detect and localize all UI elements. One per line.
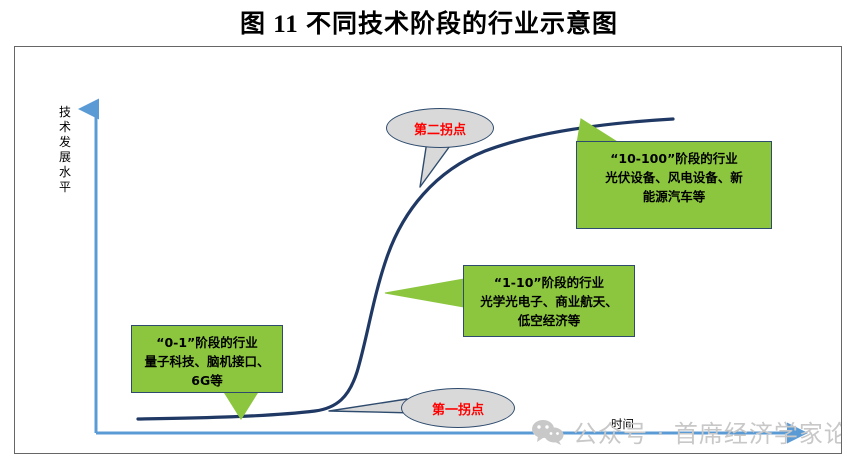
callout-box-0-1: “0-1”阶段的行业 量子科技、脑机接口、 6G等: [131, 325, 283, 393]
callout-1-10-tail: [385, 279, 464, 307]
callout-line: “10-100”阶段的行业: [583, 149, 765, 168]
y-axis-label-char: 发: [57, 135, 73, 150]
x-axis-label: 时间: [611, 416, 634, 432]
callout-line: “0-1”阶段的行业: [138, 333, 276, 352]
bubble-second-inflection: 第二拐点: [386, 108, 494, 148]
figure-frame: 技 术 发 展 水 平 时间 “0-1”阶段的行业 量子科技、脑机接口、 6G等…: [14, 46, 842, 454]
callout-line: 光伏设备、风电设备、新: [583, 168, 765, 187]
bubble-first-inflection: 第一拐点: [401, 388, 515, 428]
callout-line: 量子科技、脑机接口、: [138, 352, 276, 371]
page-title: 图 11 不同技术阶段的行业示意图: [0, 4, 858, 40]
callout-line: 能源汽车等: [583, 187, 765, 206]
y-axis-label-char: 展: [57, 150, 73, 165]
callout-box-1-10: “1-10”阶段的行业 光学光电子、商业航天、 低空经济等: [463, 265, 635, 337]
callout-line: “1-10”阶段的行业: [470, 273, 628, 292]
callout-line: 低空经济等: [470, 311, 628, 330]
y-axis-label-char: 术: [57, 120, 73, 135]
callout-line: 6G等: [138, 371, 276, 390]
y-axis-label-char: 水: [57, 165, 73, 180]
y-axis-label: 技 术 发 展 水 平: [57, 105, 73, 195]
callout-box-10-100: “10-100”阶段的行业 光伏设备、风电设备、新 能源汽车等: [576, 141, 772, 229]
callout-line: 光学光电子、商业航天、: [470, 292, 628, 311]
y-axis-label-char: 平: [57, 180, 73, 195]
y-axis-label-char: 技: [57, 105, 73, 120]
